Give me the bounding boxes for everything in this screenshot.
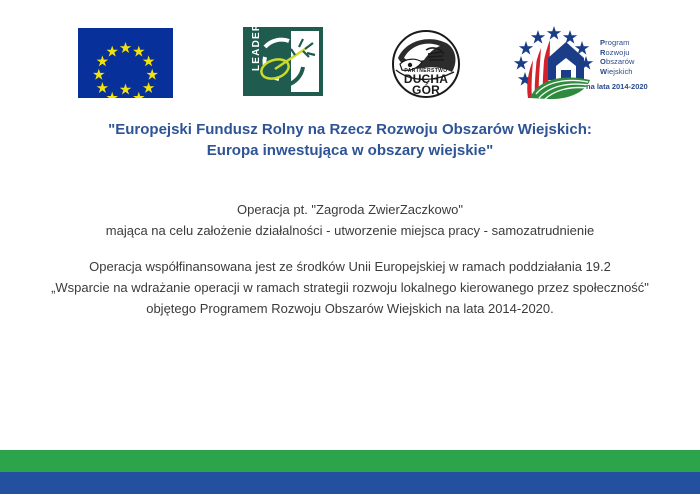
prow-line4-rest: iejskich — [607, 67, 632, 76]
ducha-gor-logo-icon: PARTNERSTWO DUCHA GÓR — [390, 28, 462, 100]
leader-logo-icon: LEADER — [243, 27, 323, 96]
footer-green-bar — [0, 450, 700, 472]
leader-logo-graphic: LEADER — [243, 27, 323, 96]
page-title-line-2: Europa inwestująca w obszary wiejskie" — [0, 140, 700, 161]
prow-line2-rest: ozwoju — [606, 48, 630, 57]
operation-goal-line: mająca na celu założenie działalności - … — [0, 220, 700, 241]
prow-logo-text: Program Rozwoju Obszarów Wiejskich — [600, 38, 676, 76]
prow-logo: Program Rozwoju Obszarów Wiejskich na la… — [508, 24, 676, 102]
funding-statement: Operacja współfinansowana jest ze środkó… — [0, 256, 700, 319]
prow-line-rozwoju: Rozwoju — [600, 48, 676, 58]
operation-title-line: Operacja pt. "Zagroda ZwierZaczkowo" — [0, 199, 700, 220]
operation-description: Operacja pt. "Zagroda ZwierZaczkowo" maj… — [0, 199, 700, 241]
leader-logo-label: LEADER — [251, 27, 262, 71]
page-title-line-1: "Europejski Fundusz Rolny na Rzecz Rozwo… — [0, 119, 700, 140]
funding-line-1: Operacja współfinansowana jest ze środkó… — [0, 256, 700, 277]
eu-flag-stars — [78, 28, 173, 98]
ducha-gor-line3: GÓR — [412, 82, 440, 97]
footer-blue-bar — [0, 472, 700, 494]
logo-bar: LEADER PARTNERSTWO DUCHA GÓR — [0, 0, 700, 112]
prow-line1-rest: rogram — [605, 38, 629, 47]
funding-line-3: objętego Programem Rozwoju Obszarów Wiej… — [0, 298, 700, 319]
prow-line-obszarow: Obszarów — [600, 57, 676, 67]
prow-line-program: Program — [600, 38, 676, 48]
page-title: "Europejski Fundusz Rolny na Rzecz Rozwo… — [0, 119, 700, 161]
eu-flag-icon — [78, 28, 173, 98]
prow-years-label: na lata 2014-2020 — [586, 82, 648, 91]
funding-line-2: „Wsparcie na wdrażanie operacji w ramach… — [0, 277, 700, 298]
prow-line-wiejskich: Wiejskich — [600, 67, 676, 77]
prow-line3-rest: bszarów — [606, 57, 635, 66]
ducha-gor-logo-graphic: PARTNERSTWO DUCHA GÓR — [390, 28, 462, 100]
